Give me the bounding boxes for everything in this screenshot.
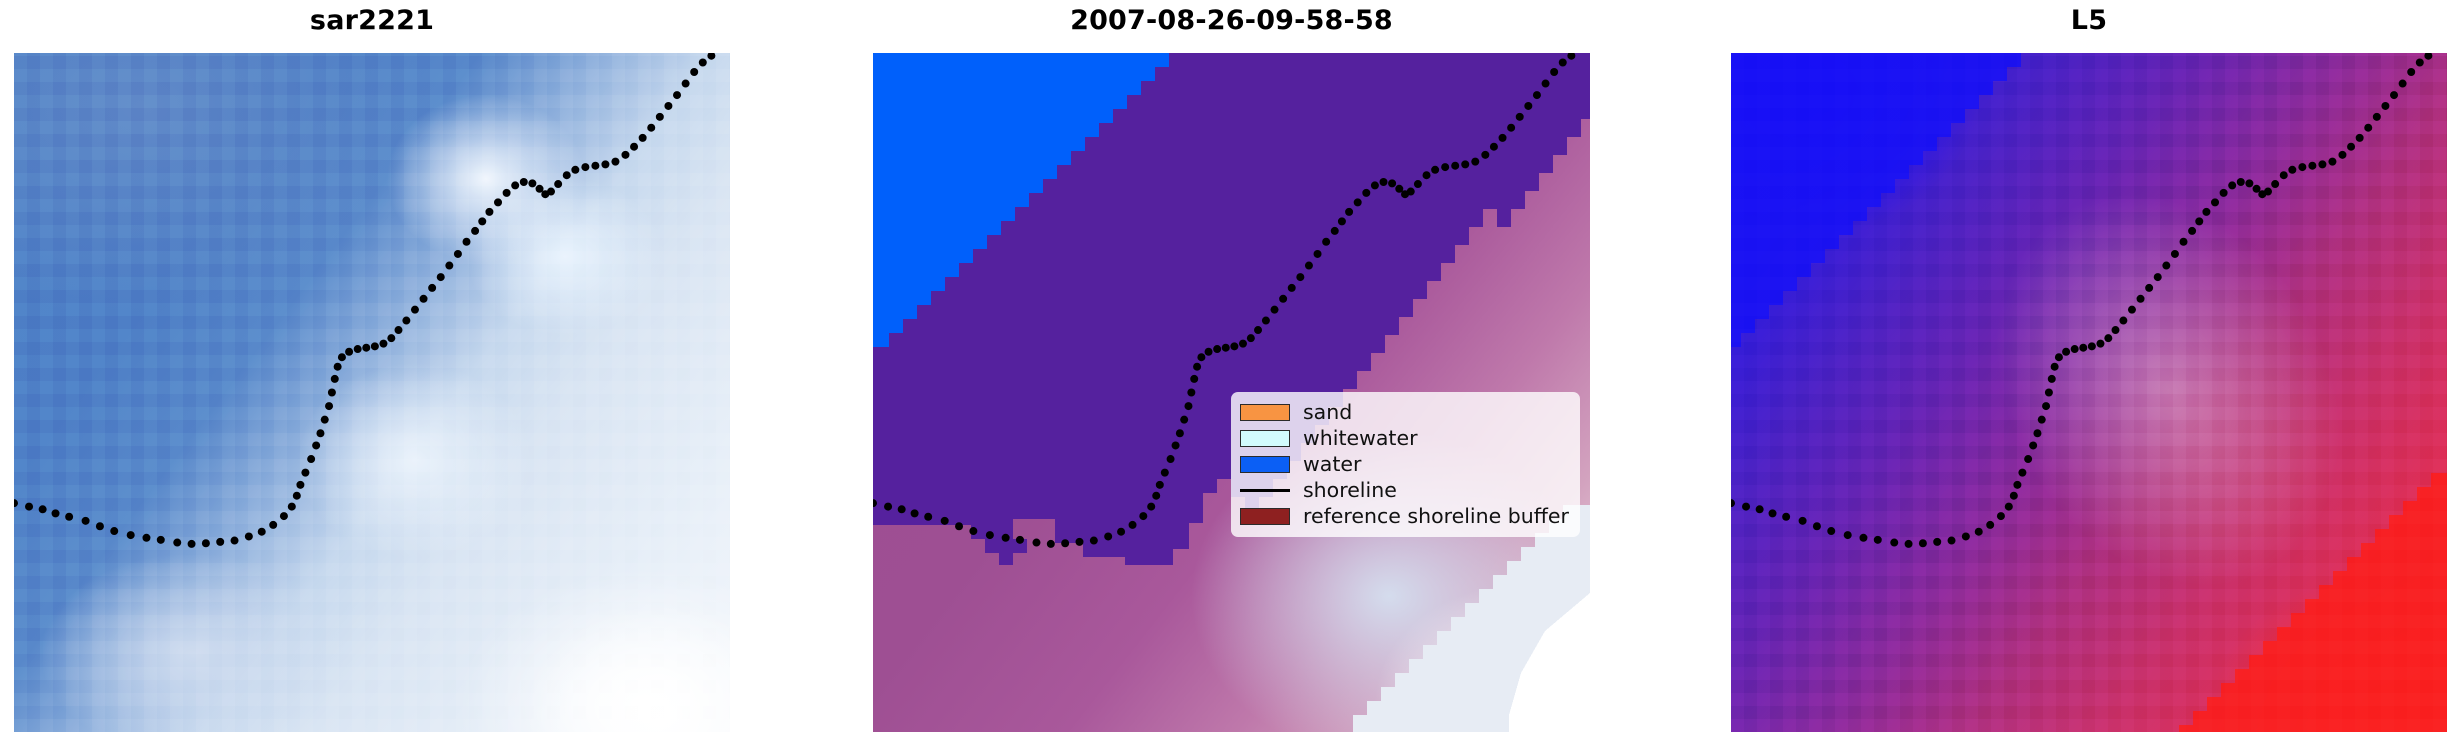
legend-swatch-whitewater <box>1240 430 1290 447</box>
figure-canvas: sar2221 2007-08-26-09-58-58 L5 <box>0 0 2460 732</box>
image-panel-classified[interactable]: sand whitewater water shoreline referenc… <box>873 53 1590 732</box>
legend-item-sand: sand <box>1240 399 1571 425</box>
image-panel-sar[interactable] <box>14 53 730 732</box>
shoreline-overlay-panel-1 <box>14 53 730 732</box>
legend-swatch-sand <box>1240 404 1290 421</box>
legend-line-shoreline <box>1240 482 1290 499</box>
image-panel-l5[interactable] <box>1731 53 2447 732</box>
legend-item-water: water <box>1240 451 1571 477</box>
legend-label-reference-shoreline-buffer: reference shoreline buffer <box>1303 506 1569 527</box>
legend-item-reference-shoreline-buffer: reference shoreline buffer <box>1240 503 1571 529</box>
panel-title-2: 2007-08-26-09-58-58 <box>873 4 1590 38</box>
legend-swatch-water <box>1240 456 1290 473</box>
legend-label-shoreline: shoreline <box>1303 480 1397 501</box>
legend-item-whitewater: whitewater <box>1240 425 1571 451</box>
legend-swatch-reference-shoreline-buffer <box>1240 508 1290 525</box>
panel-title-3: L5 <box>1731 4 2447 38</box>
legend-label-water: water <box>1303 454 1361 475</box>
panel-title-1: sar2221 <box>14 4 730 38</box>
legend-box[interactable]: sand whitewater water shoreline referenc… <box>1231 392 1580 537</box>
legend-label-sand: sand <box>1303 402 1352 423</box>
legend-item-shoreline: shoreline <box>1240 477 1571 503</box>
legend-label-whitewater: whitewater <box>1303 428 1418 449</box>
shoreline-overlay-panel-3 <box>1731 53 2447 732</box>
